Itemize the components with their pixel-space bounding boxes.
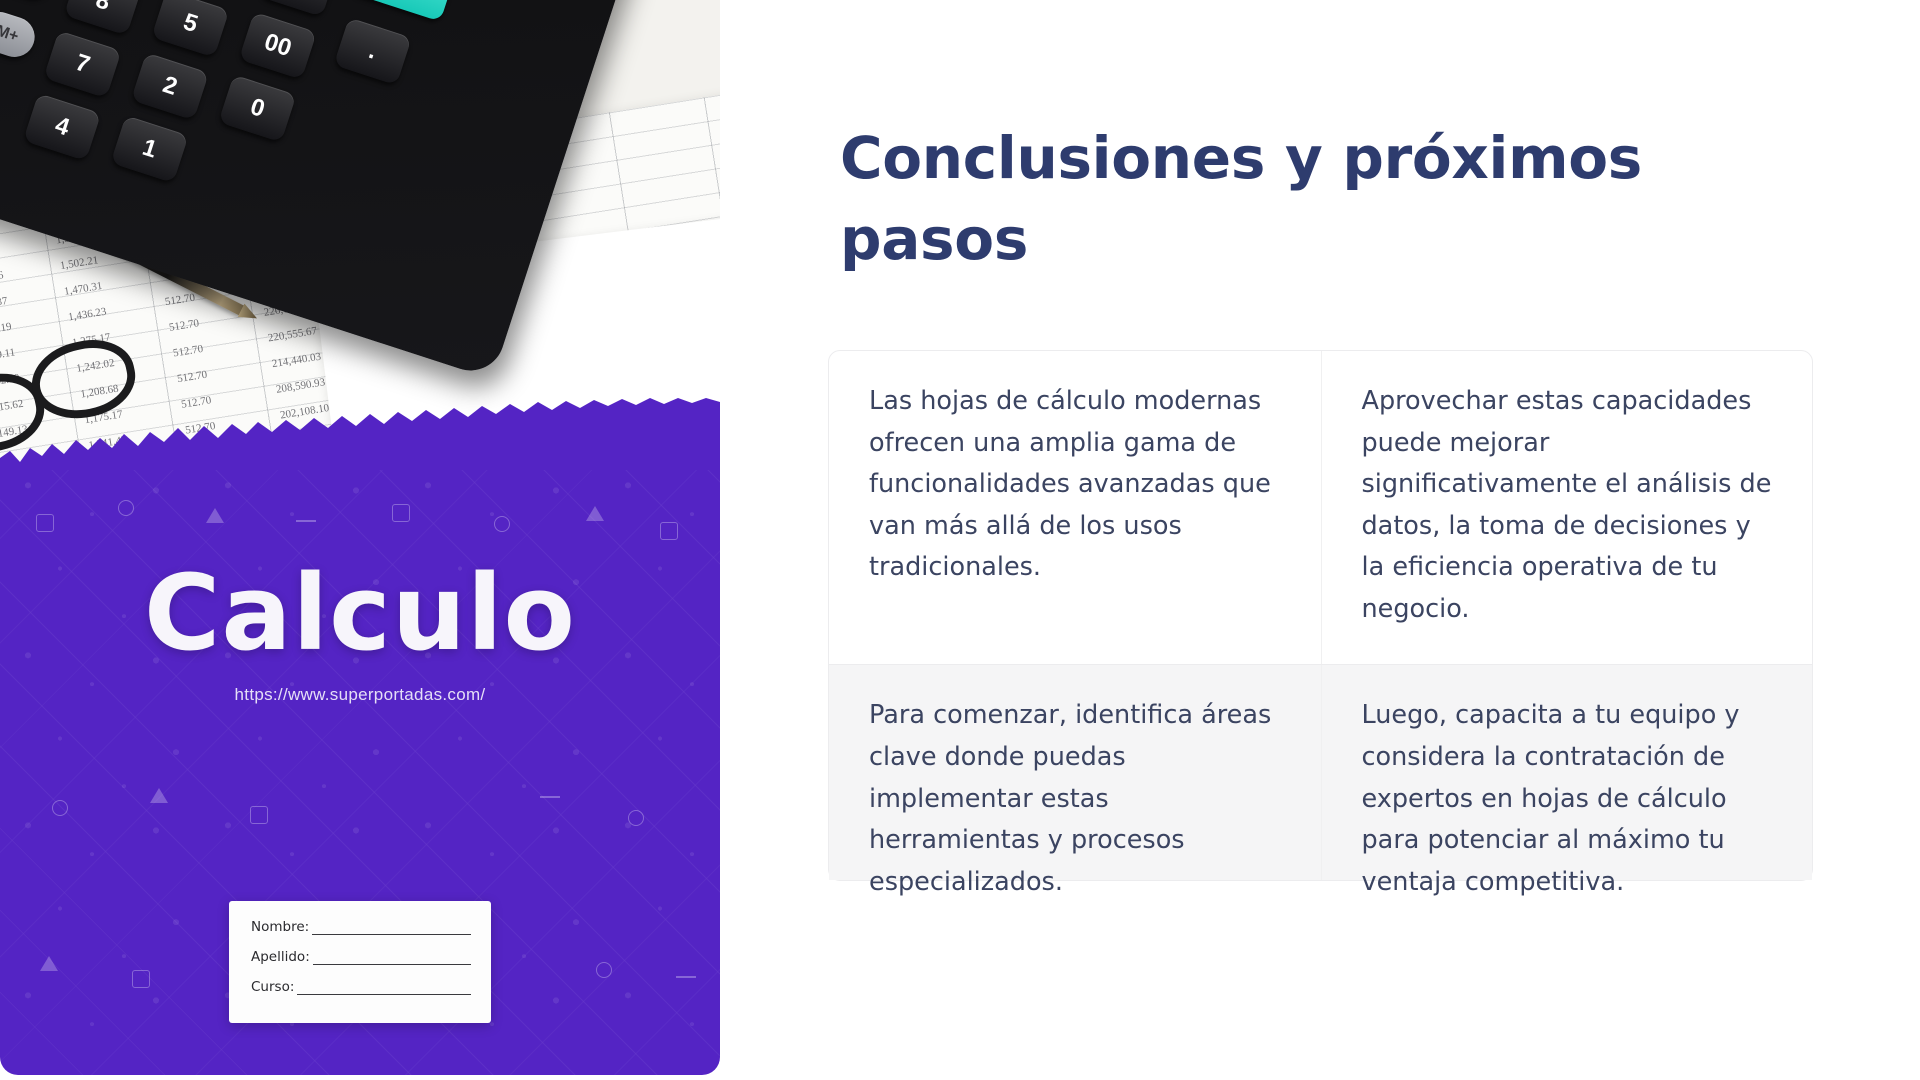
key-1: 1: [110, 115, 188, 183]
cell-number: 5,983.37: [0, 295, 8, 313]
table-cell: Para comenzar, identifica áreas clave do…: [829, 665, 1321, 880]
decor-dash-icon: [540, 796, 560, 798]
cover-panel: 5,665 5,696.19 27.41 79 5,853 7,837 7,83…: [0, 0, 720, 1075]
key-3: 3: [259, 0, 337, 17]
key-2: 2: [131, 52, 209, 120]
nameplate-box: Nombre: Apellido: Curso:: [229, 901, 491, 1023]
page-title: Conclusiones y próximos pasos: [840, 118, 1675, 280]
key-7: 7: [43, 30, 121, 98]
key-00: 00: [239, 12, 317, 80]
decor-circle-icon: [628, 810, 644, 826]
cell-number: 512.70: [164, 292, 196, 309]
key-decimal: .: [334, 17, 412, 85]
key-0: 0: [218, 75, 296, 143]
cell-number: 512.70: [168, 317, 200, 334]
cell-number: 512.70: [176, 369, 208, 386]
decor-triangle-icon: [586, 506, 604, 521]
nameplate-row: Apellido:: [251, 949, 471, 965]
decor-square-icon: [36, 514, 54, 532]
decor-dash-icon: [296, 520, 316, 522]
nameplate-blank-line: [297, 982, 471, 995]
cell-number: 6,016.19: [0, 321, 12, 339]
purple-cover-area: Calculo https://www.superportadas.com/ N…: [0, 470, 720, 1075]
decor-circle-icon: [118, 500, 134, 516]
decor-square-icon: [250, 806, 268, 824]
cell-number: 1,436.23: [67, 306, 107, 324]
cell-number: 208,590.93: [275, 376, 326, 396]
nameplate-label-apellido: Apellido:: [251, 949, 310, 965]
decor-triangle-icon: [206, 508, 224, 523]
key-plus: +: [349, 0, 456, 22]
conclusions-table: Las hojas de cálculo modernas ofrecen un…: [828, 350, 1813, 881]
decor-circle-icon: [52, 800, 68, 816]
key-m-minus: M-: [0, 0, 59, 3]
decor-triangle-icon: [40, 956, 58, 971]
nameplate-row: Curso:: [251, 979, 471, 995]
table-cell: Luego, capacita a tu equipo y considera …: [1321, 665, 1813, 880]
cover-url: https://www.superportadas.com/: [0, 685, 720, 705]
decor-square-icon: [392, 504, 410, 522]
key-5: 5: [151, 0, 229, 58]
slide: 5,665 5,696.19 27.41 79 5,853 7,837 7,83…: [0, 0, 1920, 1080]
nameplate-label-curso: Curso:: [251, 979, 294, 995]
cell-number: 220,555.67: [267, 325, 318, 345]
table-row: Las hojas de cálculo modernas ofrecen un…: [829, 351, 1812, 664]
cell-number: 1,470.31: [63, 280, 103, 298]
cell-number: 5,950.76: [0, 269, 4, 287]
cover-title: Calculo: [0, 552, 720, 674]
key-m-plus: M+: [0, 7, 40, 62]
decor-circle-icon: [494, 516, 510, 532]
nameplate-blank-line: [312, 922, 471, 935]
torn-paper-edge: [0, 396, 720, 470]
table-cell: Las hojas de cálculo modernas ofrecen un…: [829, 351, 1321, 664]
decor-dash-icon: [676, 976, 696, 978]
content-panel: Conclusiones y próximos pasos Las hojas …: [828, 0, 1828, 1080]
table-row: Para comenzar, identifica áreas clave do…: [829, 664, 1812, 880]
table-cell: Aprovechar estas capacidades puede mejor…: [1321, 351, 1813, 664]
decor-square-icon: [660, 522, 678, 540]
decor-triangle-icon: [150, 788, 168, 803]
cell-number: 1,502.21: [59, 254, 99, 272]
key-8: 8: [64, 0, 142, 35]
calculator-photo: 5,665 5,696.19 27.41 79 5,853 7,837 7,83…: [0, 0, 720, 470]
torn-edge-svg: [0, 396, 720, 470]
nameplate-blank-line: [313, 952, 471, 965]
nameplate-label-nombre: Nombre:: [251, 919, 309, 935]
key-4: 4: [23, 93, 101, 161]
nameplate-row: Nombre:: [251, 919, 471, 935]
cell-number: 214,440.03: [271, 351, 322, 371]
decor-circle-icon: [596, 962, 612, 978]
cell-number: 512.70: [172, 343, 204, 360]
decor-square-icon: [132, 970, 150, 988]
